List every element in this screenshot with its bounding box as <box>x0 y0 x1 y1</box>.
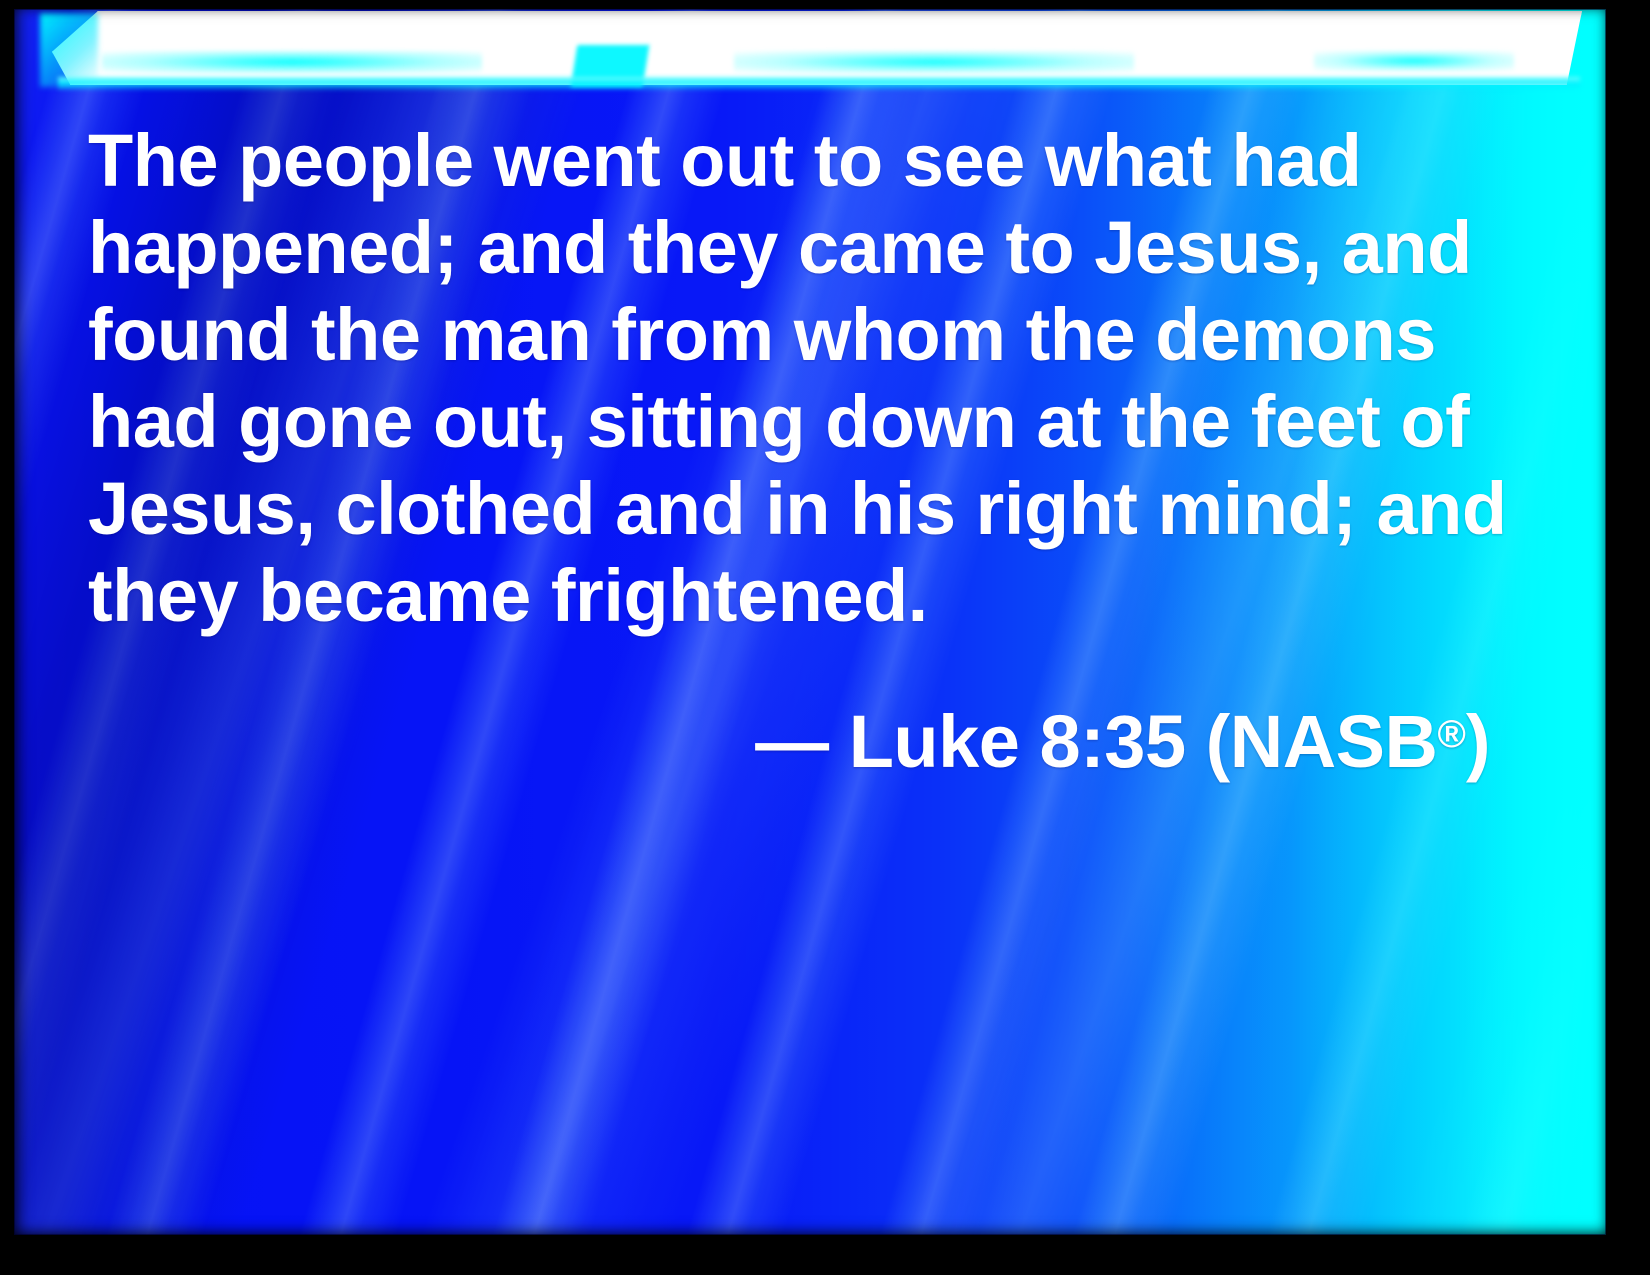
verse-line-2: happened; and they came to Jesus, and <box>88 204 1508 291</box>
slide-canvas: The people went out to see what had happ… <box>14 9 1606 1235</box>
verse-line-3: found the man from whom the demons <box>88 291 1508 378</box>
top-band-under-glow <box>58 77 1580 91</box>
top-light-band <box>14 9 1606 95</box>
verse-line-5: Jesus, clothed and in his right mind; an… <box>88 465 1508 552</box>
verse-attribution: — Luke 8:35 (NASB®) <box>88 691 1508 785</box>
registered-trademark-icon: ® <box>1437 713 1465 756</box>
top-band-left-glow <box>40 13 98 87</box>
top-band-cyan-streak-center <box>734 51 1134 73</box>
attribution-suffix: ) <box>1466 700 1490 783</box>
top-band-cyan-streak-right <box>1314 51 1514 71</box>
attribution-prefix: — Luke 8:35 (NASB <box>755 700 1437 783</box>
top-band-white-bar <box>52 11 1582 85</box>
verse-line-1: The people went out to see what had <box>88 117 1508 204</box>
verse-line-6: they became frightened. <box>88 552 1508 639</box>
verse-slide: The people went out to see what had happ… <box>0 0 1650 1275</box>
verse-text-block: The people went out to see what had happ… <box>88 117 1508 785</box>
top-band-cyan-streak-left <box>102 51 482 73</box>
verse-line-4: had gone out, sitting down at the feet o… <box>88 378 1508 465</box>
